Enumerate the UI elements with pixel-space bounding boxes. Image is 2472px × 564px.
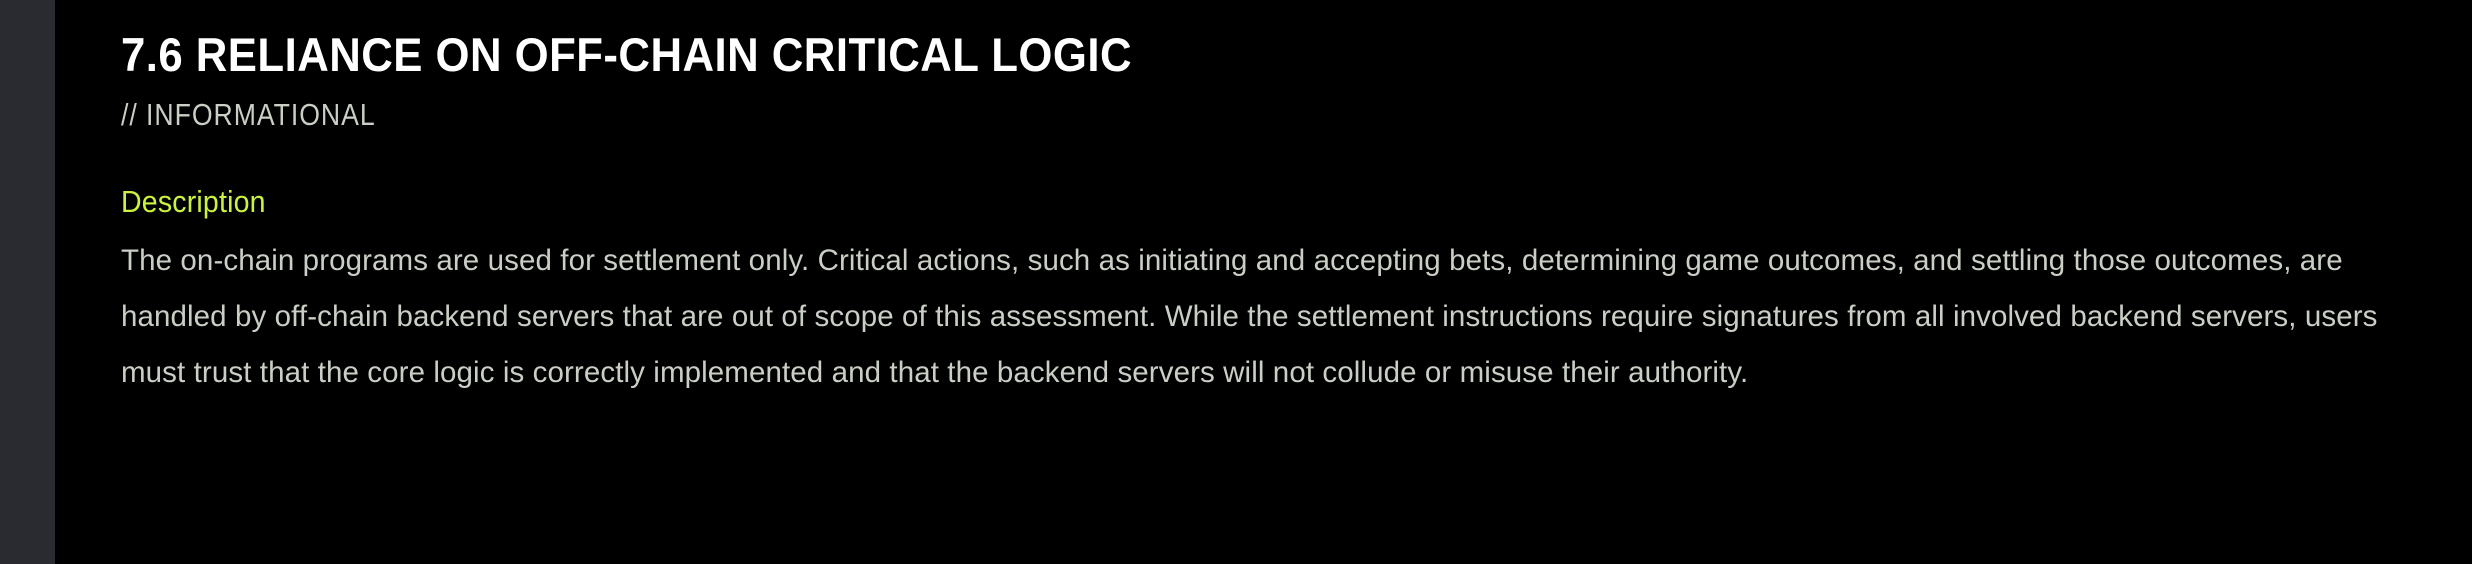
- description-section-body: The on-chain programs are used for settl…: [121, 219, 2420, 401]
- description-section-label: Description: [121, 185, 2236, 219]
- finding-content: 7.6 RELIANCE ON OFF-CHAIN CRITICAL LOGIC…: [55, 0, 2472, 564]
- finding-page: 7.6 RELIANCE ON OFF-CHAIN CRITICAL LOGIC…: [0, 0, 2472, 564]
- finding-heading: 7.6 RELIANCE ON OFF-CHAIN CRITICAL LOGIC: [121, 0, 2259, 81]
- finding-severity-label: // INFORMATIONAL: [121, 81, 2098, 132]
- description-section: Description The on-chain programs are us…: [121, 132, 2420, 401]
- left-rail: [0, 0, 55, 564]
